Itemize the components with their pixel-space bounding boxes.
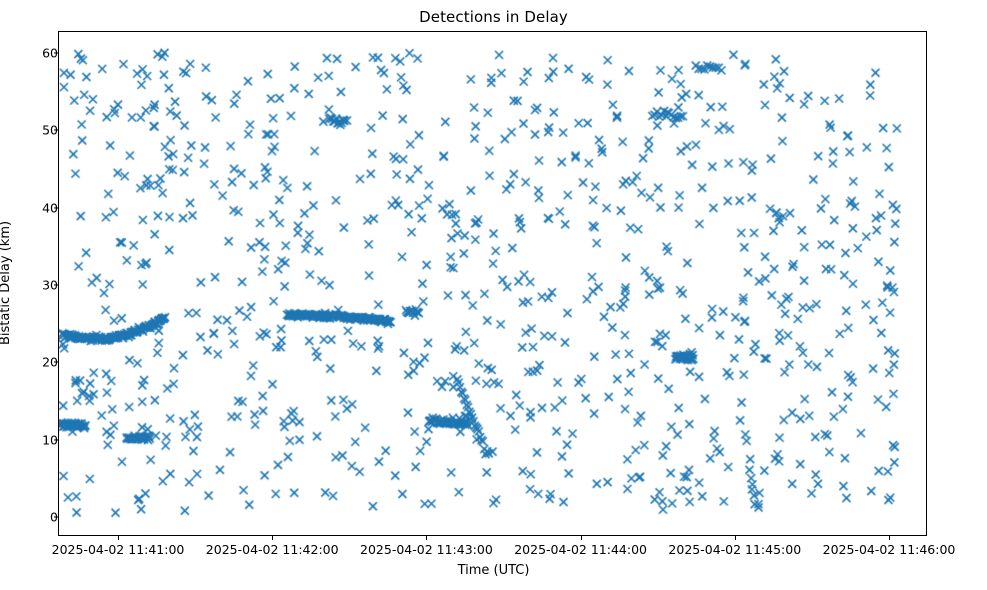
x-tick-mark [118,536,119,540]
x-tick-label: 2025-04-02 11:45:00 [668,542,801,557]
x-tick-label: 2025-04-02 11:42:00 [206,542,339,557]
y-tick-label: 10 [12,432,58,447]
x-tick-label: 2025-04-02 11:41:00 [52,542,185,557]
x-tick-label: 2025-04-02 11:43:00 [360,542,493,557]
x-tick-mark [735,536,736,540]
x-axis-ticks: 2025-04-02 11:41:002025-04-02 11:42:0020… [0,536,987,576]
y-tick-label: 60 [12,46,58,61]
x-tick-label: 2025-04-02 11:46:00 [823,542,956,557]
x-tick-mark [272,536,273,540]
matplotlib-figure: Detections in Delay Bistatic Delay (km) … [0,0,987,590]
x-tick-label: 2025-04-02 11:44:00 [514,542,647,557]
x-tick-mark [581,536,582,540]
y-tick-label: 20 [12,355,58,370]
y-axis-ticks: 0102030405060 [0,0,58,590]
scatter-plot-canvas [59,32,926,535]
y-tick-label: 40 [12,200,58,215]
y-tick-label: 30 [12,278,58,293]
y-tick-label: 0 [12,510,58,525]
chart-title: Detections in Delay [0,8,987,26]
x-tick-mark [426,536,427,540]
plot-area [58,31,927,536]
x-tick-mark [889,536,890,540]
y-tick-label: 50 [12,123,58,138]
